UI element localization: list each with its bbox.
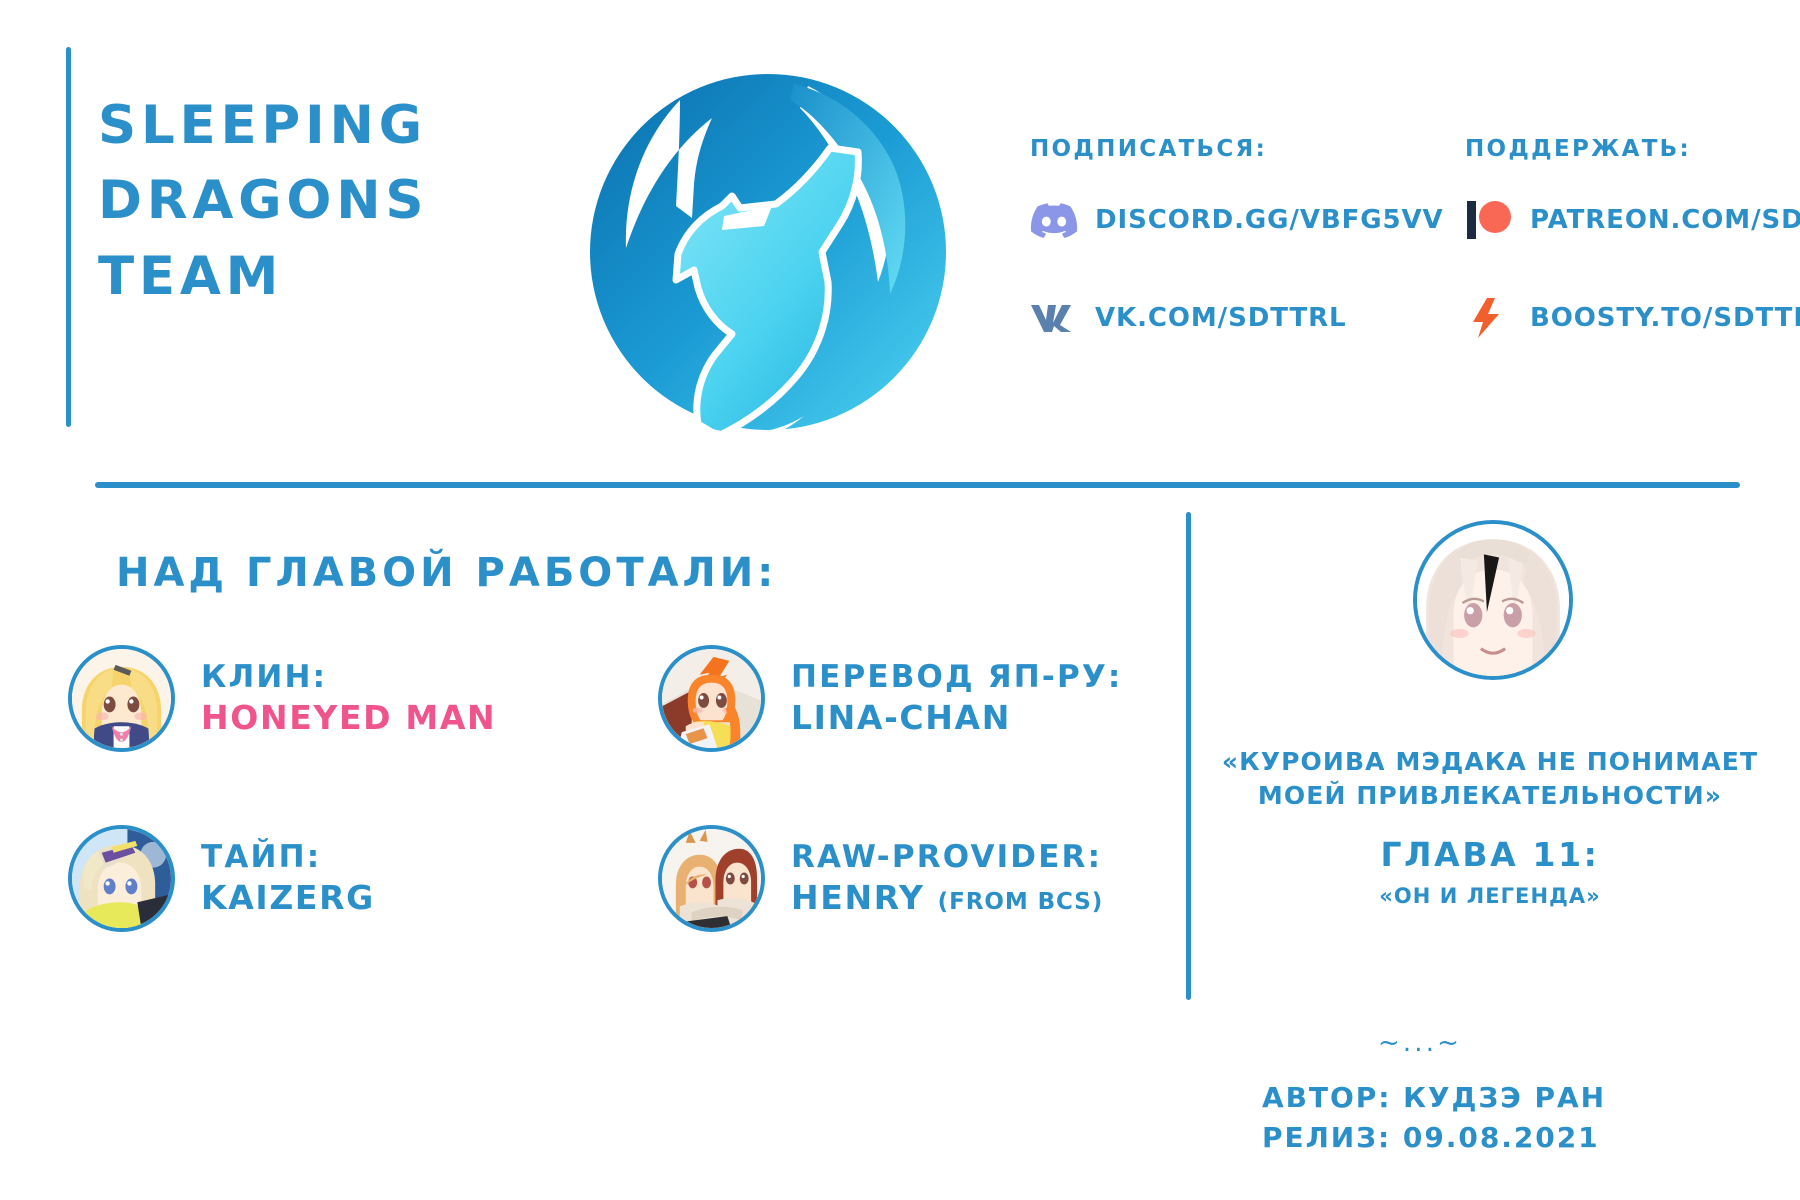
boosty-icon: [1465, 298, 1513, 338]
release-line: РЕЛИЗ: 09.08.2021: [1262, 1118, 1606, 1158]
credit-text: ТАЙП: KAIZERG: [201, 838, 375, 920]
avatar-white-hair-girl: [1413, 520, 1573, 680]
credit-item-clean: КЛИН: HONEYED MAN: [68, 645, 496, 752]
credit-name: LINA-CHAN: [791, 697, 1122, 739]
series-title-line-1: «КУРОИВА МЭДАКА НЕ ПОНИМАЕТ: [1210, 745, 1770, 779]
dragon-logo: [572, 56, 964, 446]
patreon-icon: [1465, 200, 1513, 240]
credit-text: КЛИН: HONEYED MAN: [201, 658, 496, 740]
credit-item-typeset: ТАЙП: KAIZERG: [68, 825, 375, 932]
credit-role: КЛИН:: [201, 658, 496, 698]
brand-line-1: SLEEPING: [98, 88, 518, 163]
release-meta: АВТОР: КУДЗЭ РАН РЕЛИЗ: 09.08.2021: [1262, 1078, 1606, 1158]
series-info: «КУРОИВА МЭДАКА НЕ ПОНИМАЕТ МОЕЙ ПРИВЛЕК…: [1210, 745, 1770, 908]
left-vertical-divider: [66, 47, 71, 427]
avatar-knight-girl: [68, 825, 175, 932]
credit-role: ПЕРЕВОД ЯП-РУ:: [791, 658, 1122, 698]
vk-icon: [1030, 298, 1078, 338]
boosty-link-label: BOOSTY.TO/SDTTRL: [1530, 303, 1800, 333]
author-line: АВТОР: КУДЗЭ РАН: [1262, 1078, 1606, 1118]
social-link-patreon[interactable]: PATREON.COM/SDTTRL: [1465, 200, 1800, 240]
vk-link-label: VK.COM/SDTTRL: [1095, 303, 1347, 333]
subscribe-heading: ПОДПИСАТЬСЯ:: [1030, 136, 1444, 162]
social-link-vk[interactable]: VK.COM/SDTTRL: [1030, 298, 1444, 338]
support-column: ПОДДЕРЖАТЬ: PATREON.COM/SDTTRL BOOSTY.TO…: [1465, 136, 1800, 396]
series-title-line-2: МОЕЙ ПРИВЛЕКАТЕЛЬНОСТИ»: [1210, 779, 1770, 813]
discord-icon: [1030, 200, 1078, 240]
chapter-title: «ОН И ЛЕГЕНДА»: [1210, 884, 1770, 908]
credit-item-translation: ПЕРЕВОД ЯП-РУ: LINA-CHAN: [658, 645, 1122, 752]
avatar-orange-hair-girl: [658, 645, 765, 752]
credit-text: RAW-PROVIDER: HENRY (FROM BCS): [791, 838, 1103, 920]
social-link-boosty[interactable]: BOOSTY.TO/SDTTRL: [1465, 298, 1800, 338]
credit-text: ПЕРЕВОД ЯП-РУ: LINA-CHAN: [791, 658, 1122, 740]
credit-name: HONEYED MAN: [201, 697, 496, 739]
horizontal-divider: [95, 482, 1740, 488]
decorative-separator: ~...~: [1210, 1028, 1630, 1058]
team-brand: SLEEPING DRAGONS TEAM: [98, 88, 518, 314]
credit-name: HENRY: [791, 878, 925, 917]
brand-line-2: DRAGONS: [98, 163, 518, 238]
discord-link-label: DISCORD.GG/VBFG5VV: [1095, 205, 1444, 235]
brand-line-3: TEAM: [98, 239, 518, 314]
social-link-discord[interactable]: DISCORD.GG/VBFG5VV: [1030, 200, 1444, 240]
support-heading: ПОДДЕРЖАТЬ:: [1465, 136, 1800, 162]
credits-heading: НАД ГЛАВОЙ РАБОТАЛИ:: [116, 550, 777, 596]
subscribe-column: ПОДПИСАТЬСЯ: DISCORD.GG/VBFG5VV VK.COM/S…: [1030, 136, 1444, 396]
credit-role: ТАЙП:: [201, 838, 375, 878]
avatar-two-girls: [658, 825, 765, 932]
right-vertical-divider: [1186, 512, 1191, 1000]
credit-name: KAIZERG: [201, 877, 375, 919]
patreon-link-label: PATREON.COM/SDTTRL: [1530, 205, 1800, 235]
credit-role: RAW-PROVIDER:: [791, 838, 1103, 878]
chapter-number: ГЛАВА 11:: [1210, 835, 1770, 874]
credit-name-wrap: HENRY (FROM BCS): [791, 877, 1103, 919]
avatar-blonde-girl: [68, 645, 175, 752]
credits-page: SLEEPING DRAGONS TEAM: [0, 0, 1800, 1200]
credit-name-suffix: (FROM BCS): [938, 889, 1104, 915]
credit-item-raw-provider: RAW-PROVIDER: HENRY (FROM BCS): [658, 825, 1103, 932]
